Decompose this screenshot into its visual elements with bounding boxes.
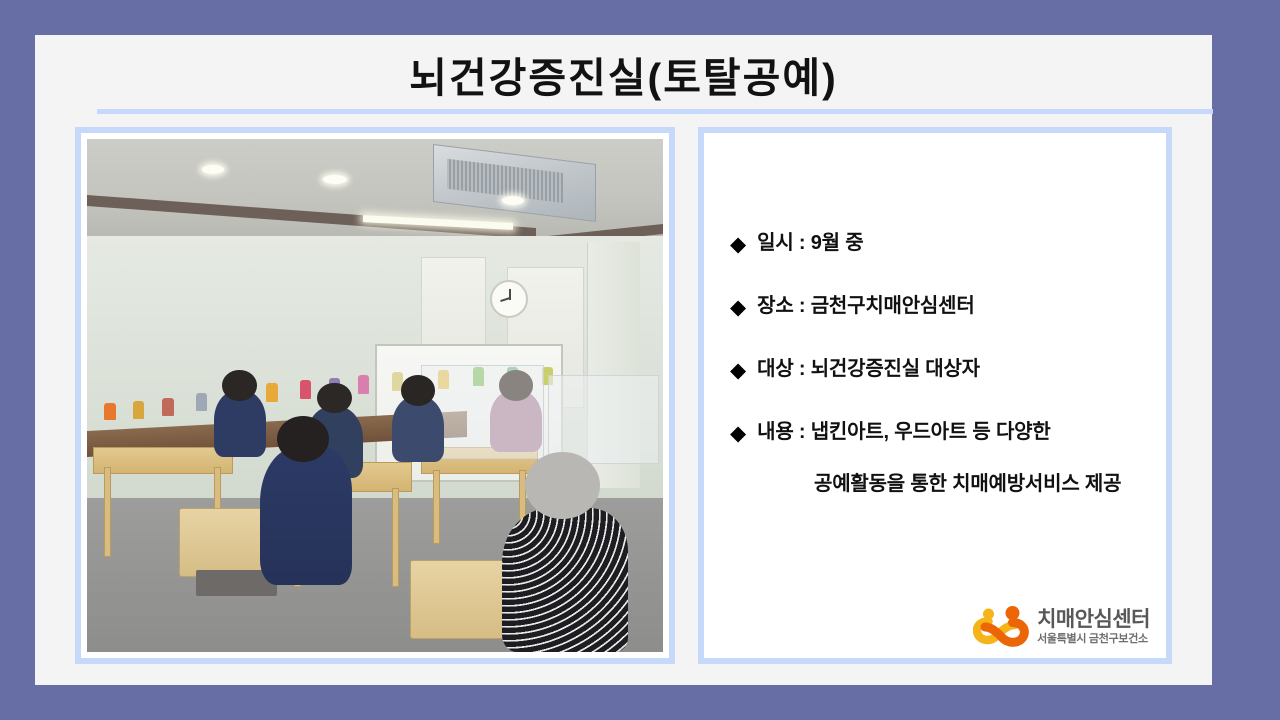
photo-participant-foreground — [502, 508, 629, 652]
photo-desk-leg — [104, 467, 111, 556]
info-panel: ◆ 일시 : 9월 중 ◆ 장소 : 금천구치매안심센터 ◆ 대상 : 뇌건강증… — [698, 127, 1172, 664]
photo-craft-item — [196, 393, 207, 411]
content-card: 뇌건강증진실(토탈공예) — [35, 35, 1212, 685]
info-list: ◆ 일시 : 9월 중 ◆ 장소 : 금천구치매안심센터 ◆ 대상 : 뇌건강증… — [730, 231, 1152, 496]
photo-chair — [410, 560, 510, 639]
photo-craft-item — [266, 383, 278, 402]
photo-craft-item — [133, 401, 144, 419]
two-figures-logo-icon — [973, 606, 1029, 648]
logo-text-block: 치매안심센터 서울특별시 금천구보건소 — [1037, 609, 1150, 645]
info-item-location: ◆ 장소 : 금천구치매안심센터 — [730, 294, 1152, 319]
photo-craft-item — [104, 403, 116, 420]
photo-participant-foreground — [260, 447, 352, 586]
center-logo: 치매안심센터 서울특별시 금천구보건소 — [973, 606, 1150, 648]
info-item-label: 장소 : 금천구치매안심센터 — [757, 294, 974, 319]
info-item-label: 내용 : 냅킨아트, 우드아트 등 다양한 — [757, 420, 1050, 445]
photo-participant-head — [222, 370, 257, 401]
photo-participant-head — [525, 452, 600, 519]
photo-craft-item — [358, 375, 369, 394]
photo-participant-head — [401, 375, 436, 406]
photo-downlight — [323, 175, 347, 184]
classroom-photo — [87, 139, 663, 652]
photo-desk-leg — [392, 488, 399, 587]
diamond-bullet-icon: ◆ — [730, 297, 746, 318]
photo-participant-head — [277, 416, 329, 462]
info-item-label: 일시 : 9월 중 — [757, 231, 863, 256]
info-item-datetime: ◆ 일시 : 9월 중 — [730, 231, 1152, 256]
diamond-bullet-icon: ◆ — [730, 423, 746, 444]
slide-root: 뇌건강증진실(토탈공예) — [0, 0, 1280, 720]
photo-participant-head — [317, 383, 352, 414]
title-divider — [97, 109, 1213, 114]
photo-desk-divider — [548, 375, 659, 464]
photo-panel — [75, 127, 675, 664]
diamond-bullet-icon: ◆ — [730, 234, 746, 255]
diamond-bullet-icon: ◆ — [730, 360, 746, 381]
info-item-label: 대상 : 뇌건강증진실 대상자 — [757, 357, 980, 382]
info-item-content: ◆ 내용 : 냅킨아트, 우드아트 등 다양한 — [730, 420, 1152, 445]
page-title-text: 뇌건강증진실(토탈공예) — [409, 44, 838, 104]
photo-participant-head — [499, 370, 534, 401]
info-item-content-continuation: 공예활동을 통한 치매예방서비스 제공 — [814, 467, 1152, 496]
photo-craft-item — [162, 398, 174, 416]
info-item-target: ◆ 대상 : 뇌건강증진실 대상자 — [730, 357, 1152, 382]
photo-wall-clock — [490, 280, 528, 318]
photo-downlight — [202, 165, 224, 174]
photo-desk-leg — [433, 470, 440, 544]
photo-craft-item — [300, 380, 311, 399]
photo-desk — [93, 447, 233, 475]
logo-title: 치매안심센터 — [1037, 609, 1150, 630]
logo-subtitle: 서울특별시 금천구보건소 — [1037, 634, 1150, 645]
page-title: 뇌건강증진실(토탈공예) — [35, 35, 1212, 113]
